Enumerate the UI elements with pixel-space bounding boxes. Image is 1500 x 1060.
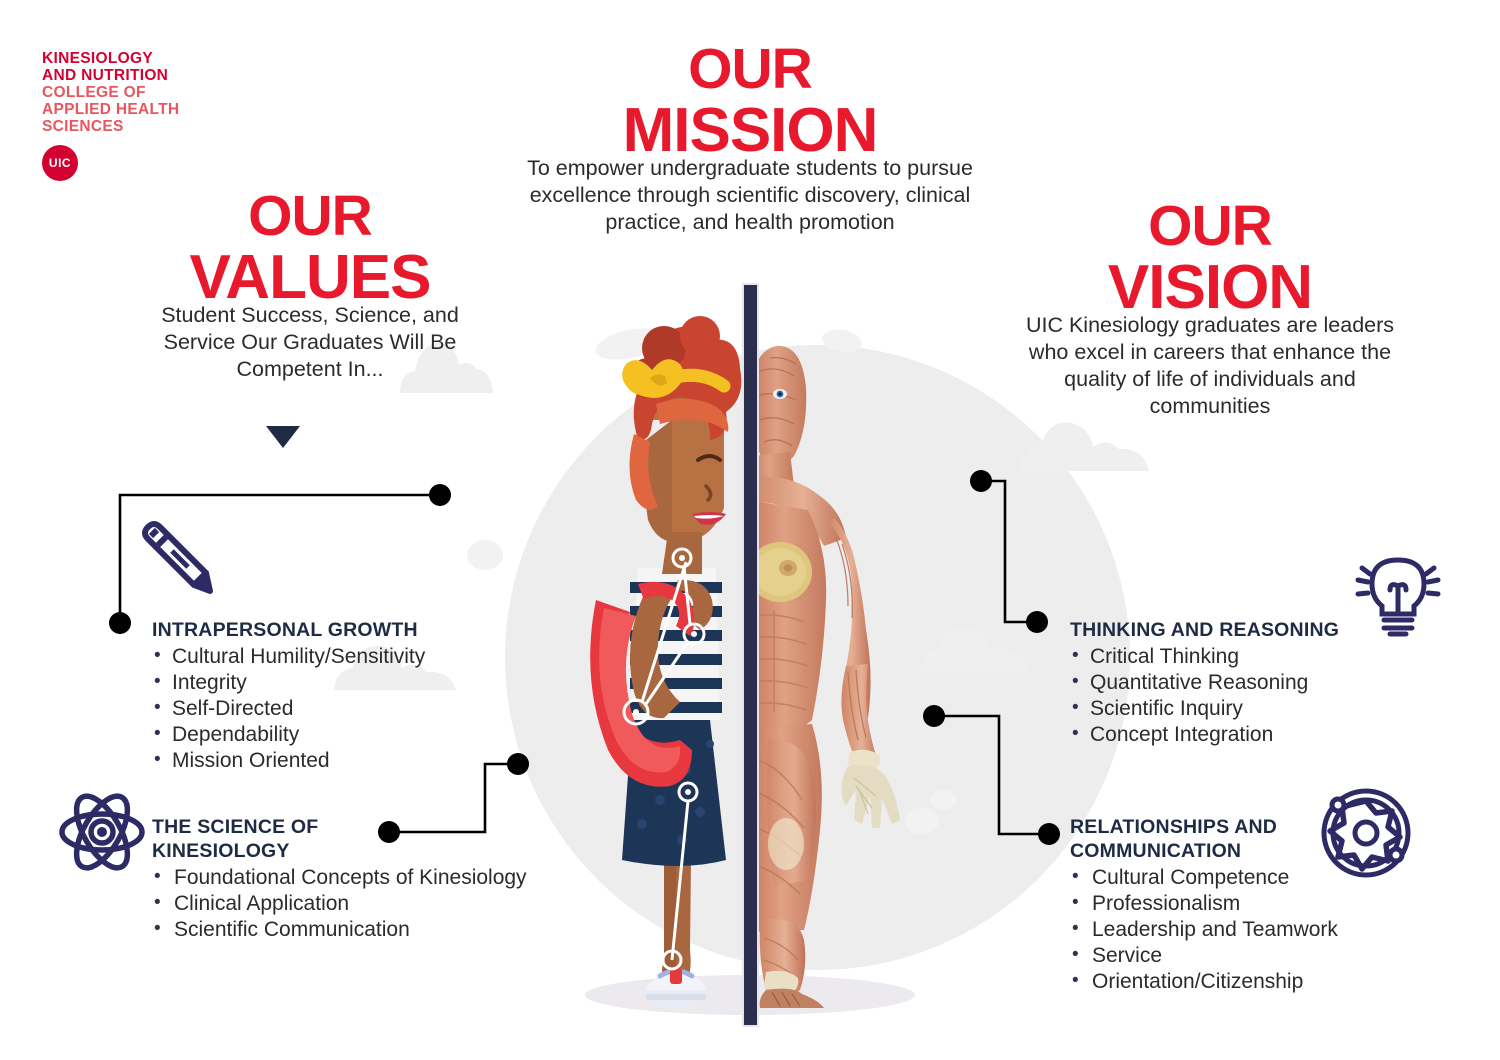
connector-relationships (934, 716, 1049, 834)
connector-thinking (981, 481, 1037, 622)
competency-title: RELATIONSHIPS AND COMMUNICATION (1070, 815, 1310, 863)
list-item: Service (1070, 943, 1430, 969)
list-item: Critical Thinking (1070, 644, 1430, 670)
competency-list: Cultural Humility/Sensitivity Integrity … (152, 644, 512, 774)
list-item: Scientific Inquiry (1070, 696, 1430, 722)
list-item: Self-Directed (152, 696, 512, 722)
competency-title: THINKING AND REASONING (1070, 618, 1430, 642)
list-item: Professionalism (1070, 891, 1430, 917)
atom-icon (58, 788, 146, 881)
competency-list: Critical Thinking Quantitative Reasoning… (1070, 644, 1430, 748)
list-item: Cultural Humility/Sensitivity (152, 644, 512, 670)
list-item: Orientation/Citizenship (1070, 969, 1430, 995)
list-item: Dependability (152, 722, 512, 748)
list-item: Foundational Concepts of Kinesiology (152, 865, 572, 891)
pencil-icon (136, 515, 222, 602)
list-item: Mission Oriented (152, 748, 512, 774)
competency-title: INTRAPERSONAL GROWTH (152, 618, 512, 642)
competency-list: Foundational Concepts of Kinesiology Cli… (152, 865, 572, 943)
list-item: Clinical Application (152, 891, 572, 917)
list-item: Leadership and Teamwork (1070, 917, 1430, 943)
list-item: Scientific Communication (152, 917, 572, 943)
list-item: Integrity (152, 670, 512, 696)
competency-list: Cultural Competence Professionalism Lead… (1070, 865, 1430, 995)
competency-title: THE SCIENCE OF KINESIOLOGY (152, 815, 362, 863)
competency-block-intrapersonal-growth: INTRAPERSONAL GROWTH Cultural Humility/S… (152, 618, 512, 774)
competency-block-thinking-and-reasoning: THINKING AND REASONING Critical Thinking… (1070, 618, 1430, 748)
list-item: Cultural Competence (1070, 865, 1430, 891)
competency-block-science-of-kinesiology: THE SCIENCE OF KINESIOLOGY Foundational … (152, 815, 572, 943)
competency-block-relationships-and-communication: RELATIONSHIPS AND COMMUNICATION Cultural… (1070, 815, 1430, 995)
list-item: Quantitative Reasoning (1070, 670, 1430, 696)
list-item: Concept Integration (1070, 722, 1430, 748)
